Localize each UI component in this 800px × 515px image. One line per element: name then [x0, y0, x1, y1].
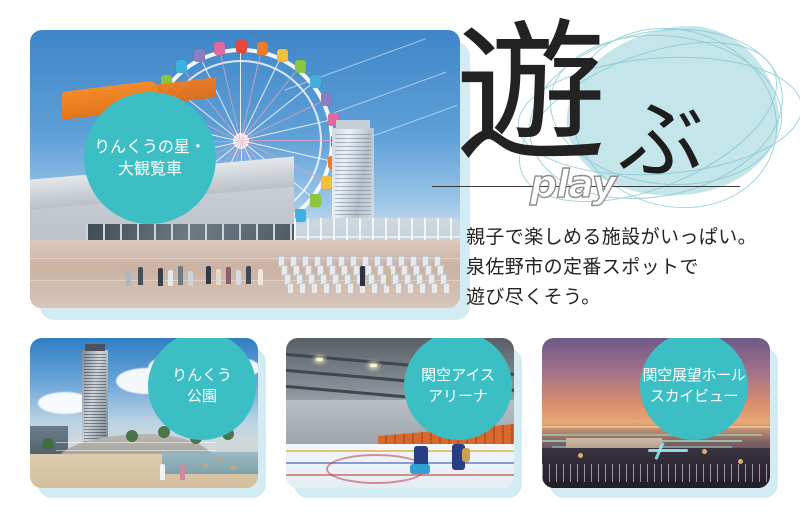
wheel-gondola	[310, 75, 321, 88]
plaza-visitor	[178, 266, 183, 285]
plaza-chair	[287, 283, 294, 294]
plaza-visitor	[138, 267, 143, 285]
plaza-visitor	[246, 266, 251, 284]
badge-line-2: スカイビュー	[650, 386, 738, 407]
wheel-gondola	[194, 49, 205, 62]
plaza-visitor	[206, 266, 211, 284]
wheel-gondola	[214, 42, 225, 55]
badge-line-2: アリーナ	[428, 386, 488, 407]
badge-line-1: りんくう	[172, 365, 232, 386]
plaza-visitor	[236, 270, 241, 285]
plaza-chair	[443, 283, 450, 294]
plaza-chair	[431, 283, 438, 294]
wheel-gondola	[321, 176, 332, 189]
ice-photo-card[interactable]: 関空アイス アリーナ	[286, 338, 514, 488]
promo-banner: りんくうの星・ 大観覧車 遊 ぶ play 親子で楽しめる施設がいっぱい。 泉佐…	[0, 0, 800, 515]
lede-line-3: 遊び尽くそう。	[466, 282, 796, 312]
badge-rinku-star-ferris-wheel[interactable]: りんくうの星・ 大観覧車	[84, 92, 216, 224]
plaza-visitor	[168, 270, 173, 286]
wheel-gondola	[295, 209, 306, 222]
plaza-chair	[311, 283, 318, 294]
wheel-gondola	[277, 49, 288, 62]
headline-kana: ぶ	[618, 98, 704, 184]
plaza-visitor	[188, 271, 193, 286]
plaza-chair	[299, 283, 306, 294]
wheel-gondola	[176, 60, 187, 73]
wheel-gondola	[295, 60, 306, 73]
aircraft-outline	[634, 440, 690, 462]
plaza-chair	[323, 283, 330, 294]
wheel-gondola	[321, 93, 332, 106]
ice-surface	[286, 444, 514, 488]
plaza-visitor	[360, 266, 365, 286]
badge-line-1: 関空アイス	[421, 365, 495, 386]
badge-line-1: りんくうの星・	[94, 136, 206, 158]
plaza-chair	[371, 283, 378, 294]
park-photo-card[interactable]: りんくう 公園	[30, 338, 258, 488]
dome-band	[294, 236, 460, 238]
badge-line-2: 公園	[187, 386, 217, 407]
lede-paragraph: 親子で楽しめる施設がいっぱい。 泉佐野市の定番スポットで 遊び尽くそう。	[466, 222, 796, 312]
plaza-visitor	[126, 270, 131, 286]
plaza-visitor	[216, 269, 221, 285]
headline-kanji: 遊	[455, 18, 605, 170]
plaza-visitor	[258, 269, 263, 285]
lede-line-2: 泉佐野市の定番スポットで	[466, 252, 796, 282]
plaza-visitor	[386, 268, 391, 286]
wheel-gondola	[310, 194, 321, 207]
sky-photo-card[interactable]: 関空展望ホール スカイビュー	[542, 338, 770, 488]
park-water	[162, 452, 258, 474]
lede-line-1: 親子で楽しめる施設がいっぱい。	[466, 222, 796, 252]
wheel-spoke	[240, 48, 241, 141]
badge-line-2: 大観覧車	[118, 158, 182, 180]
plaza-visitor	[226, 267, 231, 284]
wheel-spoke	[241, 140, 334, 141]
plaza-chair	[407, 283, 414, 294]
headline-romaji: play	[530, 162, 615, 206]
hero-photo-card[interactable]: りんくうの星・ 大観覧車	[30, 30, 460, 308]
badge-line-1: 関空展望ホール	[643, 365, 746, 386]
plaza-chair	[419, 283, 426, 294]
wheel-gondola	[236, 40, 247, 53]
plaza-chair	[395, 283, 402, 294]
plaza-visitor	[158, 268, 163, 286]
plaza-chair	[335, 283, 342, 294]
wheel-gondola	[257, 42, 268, 55]
plaza-chair	[347, 283, 354, 294]
